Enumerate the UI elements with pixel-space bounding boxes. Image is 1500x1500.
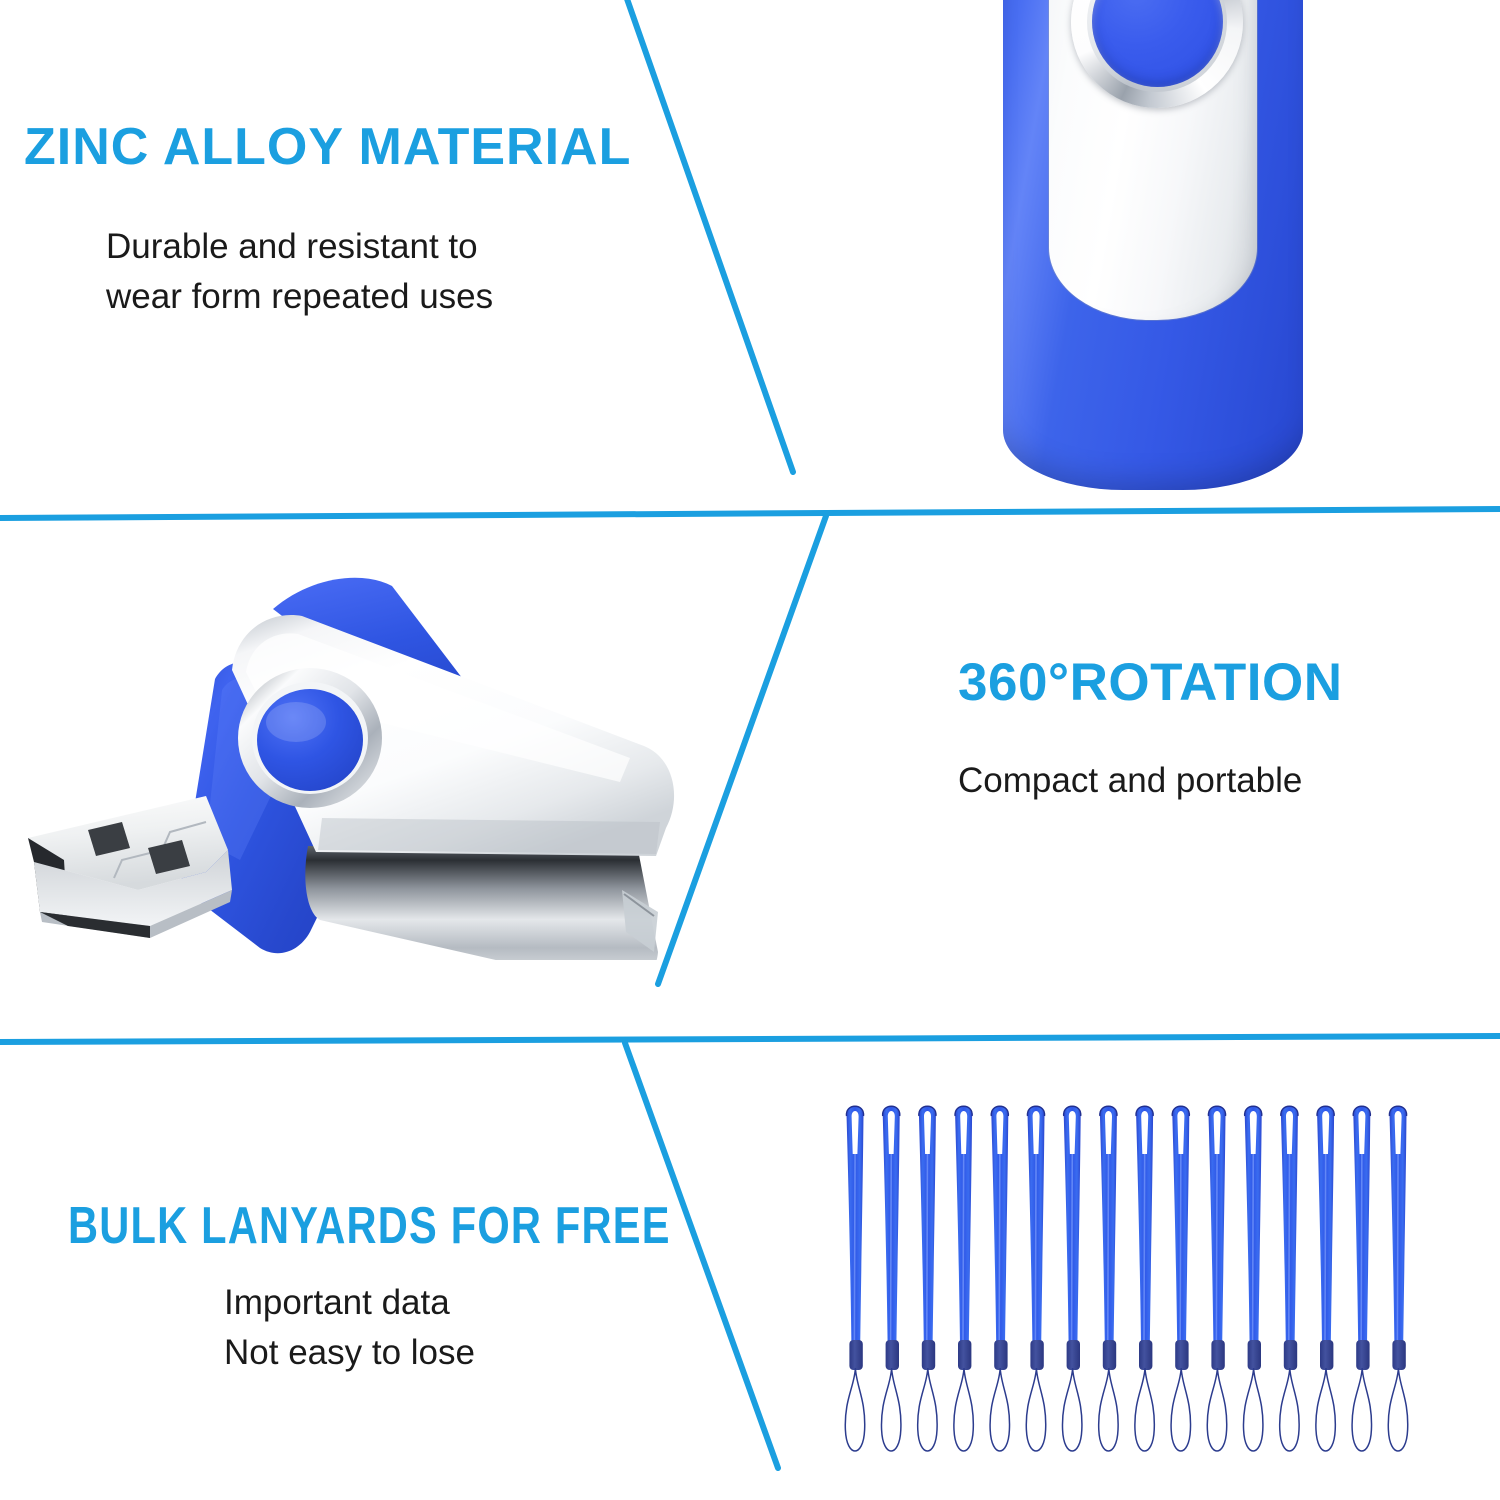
lanyard-ferrule-clamp	[1139, 1340, 1152, 1370]
lanyard-cord-loop	[1352, 1368, 1371, 1451]
lanyard-cord-loop	[1135, 1368, 1154, 1451]
lanyard-loop-opening	[1177, 1111, 1184, 1154]
lanyard-ferrule-clamp	[1248, 1340, 1261, 1370]
lanyard-loop-opening	[1033, 1111, 1040, 1154]
panel-subtitle-line: Not easy to lose	[224, 1328, 475, 1378]
lanyard-row-image	[836, 1100, 1426, 1490]
lanyard-loop-opening	[996, 1111, 1003, 1154]
lanyard-cord-loop	[1243, 1368, 1262, 1451]
lanyard-ferrule-clamp	[849, 1340, 862, 1370]
lanyard-item	[1099, 1106, 1118, 1451]
usb-flash-drive-open-image	[10, 560, 710, 960]
infographic-canvas: ZINC ALLOY MATERIAL Durable and resistan…	[0, 0, 1500, 1500]
lanyard-cord-loop	[1099, 1368, 1118, 1451]
panel-subtitle-bulk-lanyards: Important data Not easy to lose	[224, 1278, 475, 1377]
usb-blue-pivot-button	[257, 689, 363, 791]
lanyard-ferrule-clamp	[1067, 1340, 1080, 1370]
lanyard-item	[1135, 1106, 1154, 1451]
lanyard-loop-opening	[1069, 1111, 1076, 1154]
lanyard-cord-loop	[1062, 1368, 1081, 1451]
panel-heading-bulk-lanyards: BULK LANYARDS FOR FREE	[68, 1196, 671, 1256]
lanyard-loop-opening	[1322, 1111, 1329, 1154]
lanyard-loop-opening	[1358, 1111, 1365, 1154]
diagonal-accent-panel-1	[626, 0, 793, 472]
lanyard-item	[1243, 1106, 1262, 1451]
lanyard-ferrule-clamp	[1175, 1340, 1188, 1370]
lanyard-item	[1026, 1106, 1045, 1451]
panel-subtitle-line: Compact and portable	[958, 756, 1302, 806]
panel-subtitle-rotation: Compact and portable	[958, 756, 1302, 806]
usb-pivot-button-gloss	[266, 702, 326, 742]
panel-subtitle-line: Important data	[224, 1278, 475, 1328]
lanyard-item	[1171, 1106, 1190, 1451]
lanyard-ferrule-clamp	[1392, 1340, 1405, 1370]
lanyard-ferrule-clamp	[922, 1340, 935, 1370]
usb-cover-shading	[318, 818, 660, 854]
lanyard-item	[1316, 1106, 1335, 1451]
lanyard-item	[881, 1106, 900, 1451]
lanyard-ferrule-clamp	[1211, 1340, 1224, 1370]
lanyard-item	[1352, 1106, 1371, 1451]
panel-subtitle-zinc-alloy: Durable and resistant to wear form repea…	[106, 222, 493, 321]
lanyard-item	[1062, 1106, 1081, 1451]
lanyard-item	[1280, 1106, 1299, 1451]
lanyard-loop-opening	[1105, 1111, 1112, 1154]
lanyard-cord-loop	[1280, 1368, 1299, 1451]
lanyard-item	[845, 1106, 864, 1451]
lanyard-loop-opening	[1214, 1111, 1221, 1154]
lanyard-cord-loop	[881, 1368, 900, 1451]
lanyard-item	[1207, 1106, 1226, 1451]
lanyard-ferrule-clamp	[1030, 1340, 1043, 1370]
lanyard-item	[918, 1106, 937, 1451]
lanyard-item	[990, 1106, 1009, 1451]
lanyard-loop-opening	[852, 1111, 859, 1154]
lanyard-cord-loop	[1207, 1368, 1226, 1451]
lanyard-cord-loop	[1171, 1368, 1190, 1451]
lanyard-ferrule-clamp	[1284, 1340, 1297, 1370]
lanyard-cord-loop	[990, 1368, 1009, 1451]
lanyard-ferrule-clamp	[1103, 1340, 1116, 1370]
lanyard-item	[954, 1106, 973, 1451]
lanyard-cord-loop	[1026, 1368, 1045, 1451]
lanyard-loop-opening	[1141, 1111, 1148, 1154]
lanyard-item	[1388, 1106, 1407, 1451]
lanyard-cord-loop	[1316, 1368, 1335, 1451]
horizontal-divider-bottom	[0, 1036, 1500, 1042]
lanyard-loop-opening	[924, 1111, 931, 1154]
panel-heading-rotation: 360°ROTATION	[958, 652, 1343, 713]
lanyard-cord-loop	[1388, 1368, 1407, 1451]
lanyard-loop-opening	[1250, 1111, 1257, 1154]
lanyard-ferrule-clamp	[886, 1340, 899, 1370]
lanyard-cord-loop	[954, 1368, 973, 1451]
lanyard-cord-loop	[845, 1368, 864, 1451]
lanyard-ferrule-clamp	[1356, 1340, 1369, 1370]
panel-subtitle-line: Durable and resistant to	[106, 222, 493, 272]
horizontal-divider-top	[0, 509, 1500, 518]
panel-subtitle-line: wear form repeated uses	[106, 272, 493, 322]
lanyard-loop-opening	[960, 1111, 967, 1154]
lanyard-ferrule-clamp	[994, 1340, 1007, 1370]
usb-flash-drive-closeup-image	[1003, 0, 1303, 490]
lanyard-ferrule-clamp	[958, 1340, 971, 1370]
lanyard-loop-opening	[888, 1111, 895, 1154]
usb-cover-side-face	[305, 846, 658, 960]
panel-heading-zinc-alloy: ZINC ALLOY MATERIAL	[24, 117, 631, 177]
lanyard-loop-opening	[1286, 1111, 1293, 1154]
lanyard-ferrule-clamp	[1320, 1340, 1333, 1370]
lanyard-cord-loop	[918, 1368, 937, 1451]
lanyard-loop-opening	[1395, 1111, 1402, 1154]
